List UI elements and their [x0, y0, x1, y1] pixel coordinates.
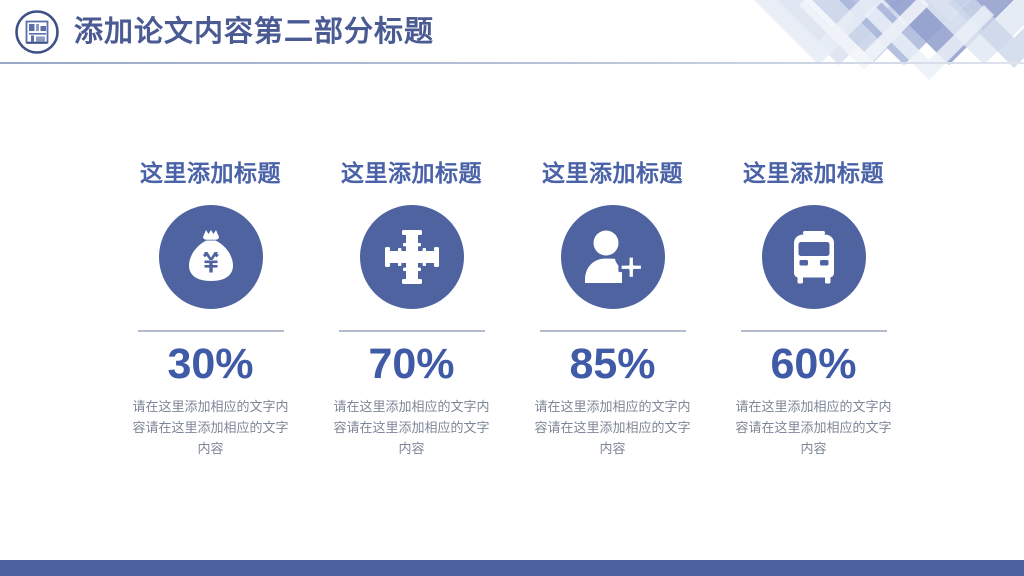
stat-column[interactable]: 这里添加标题: [311, 158, 512, 459]
stat-description: 请在这里添加相应的文字内容请在这里添加相应的文字内容: [529, 396, 697, 459]
header-divider: [0, 62, 1024, 64]
move-cross-arrows-icon: [360, 205, 464, 309]
stat-percent: 30%: [167, 338, 253, 390]
slide-header: 添加论文内容第二部分标题: [0, 0, 1024, 62]
stat-percent: 60%: [770, 338, 856, 390]
column-divider: [339, 330, 485, 332]
slide-canvas: 添加论文内容第二部分标题 这里添加标题: [0, 0, 1024, 576]
page-title: 添加论文内容第二部分标题: [74, 12, 434, 52]
column-title: 这里添加标题: [341, 158, 482, 188]
stat-description: 请在这里添加相应的文字内容请在这里添加相应的文字内容: [730, 396, 898, 459]
column-divider: [138, 330, 284, 332]
bookshelf-icon: [14, 9, 60, 55]
bus-icon: [762, 205, 866, 309]
stat-column[interactable]: 这里添加标题: [713, 158, 914, 459]
stat-percent: 85%: [569, 338, 655, 390]
stat-description: 请在这里添加相应的文字内容请在这里添加相应的文字内容: [328, 396, 496, 459]
column-title: 这里添加标题: [140, 158, 281, 188]
column-divider: [540, 330, 686, 332]
stats-columns: 这里添加标题 30% 请在这里添加相应的文字内容请在这: [110, 158, 914, 459]
stat-column[interactable]: 这里添加标题 85% 请在这里添加相应的文字内容请在这里添加相应的文字内容: [512, 158, 713, 459]
stat-column[interactable]: 这里添加标题 30% 请在这里添加相应的文字内容请在这: [110, 158, 311, 459]
money-bag-yen-icon: [159, 205, 263, 309]
footer-accent-bar: [0, 560, 1024, 576]
column-title: 这里添加标题: [542, 158, 683, 188]
column-divider: [741, 330, 887, 332]
add-user-icon: [561, 205, 665, 309]
stat-percent: 70%: [368, 338, 454, 390]
column-title: 这里添加标题: [743, 158, 884, 188]
stat-description: 请在这里添加相应的文字内容请在这里添加相应的文字内容: [127, 396, 295, 459]
